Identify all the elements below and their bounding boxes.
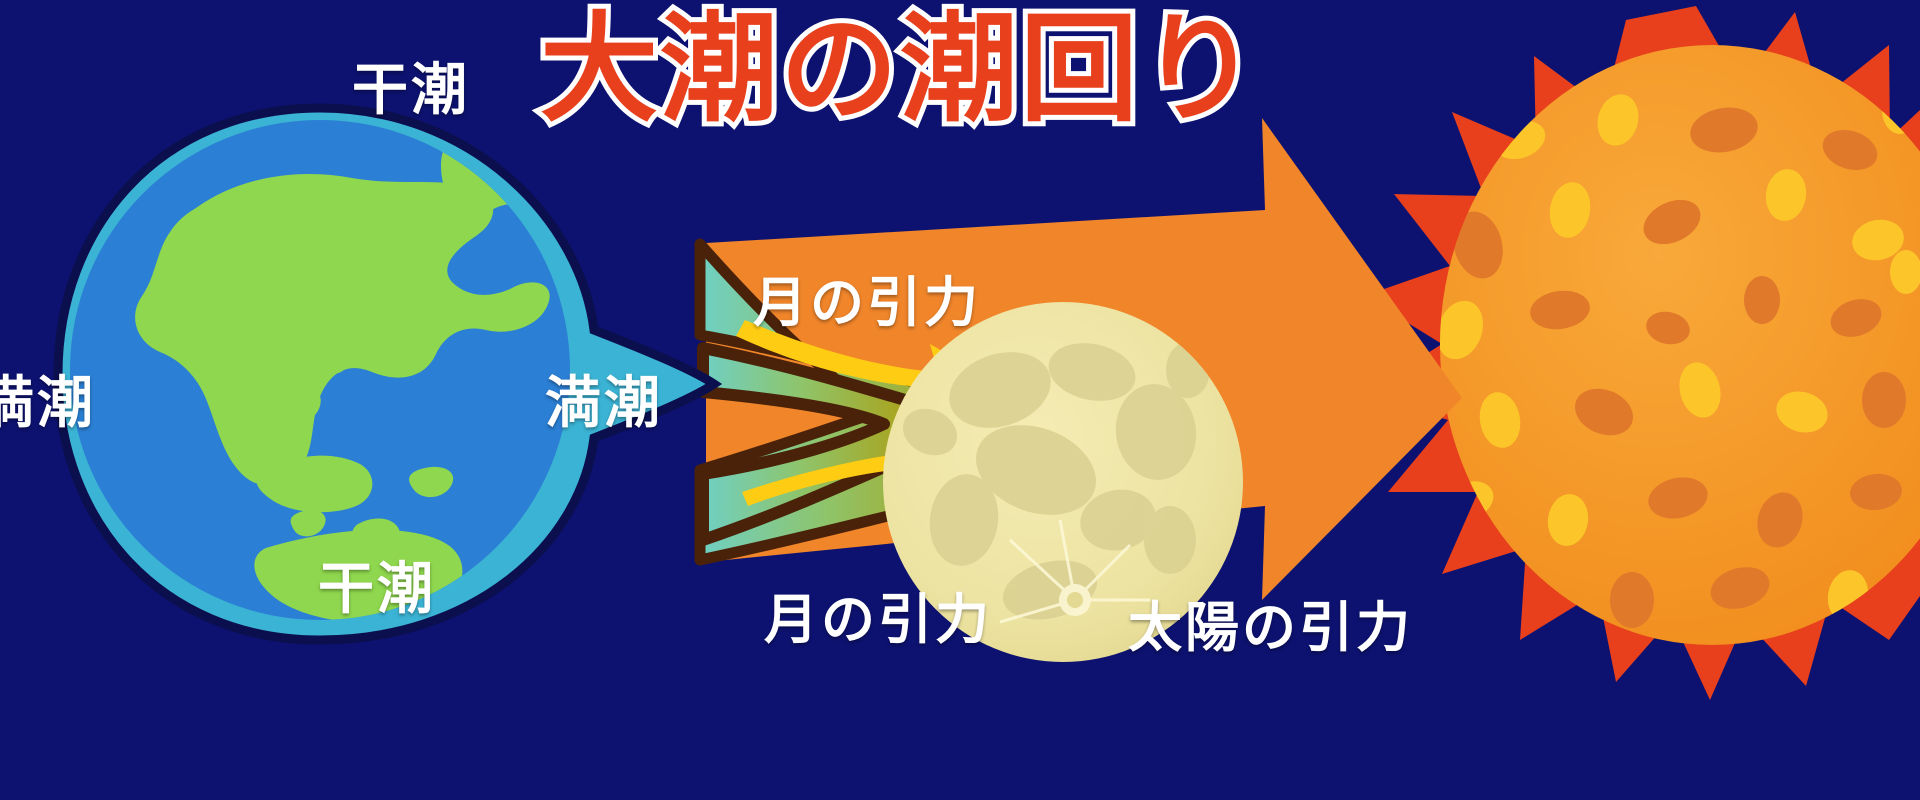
label-low-tide-bottom: 干潮 [318,544,436,625]
illustration-scene [0,0,1920,800]
label-moon-gravity-bottom: 月の引力 [764,575,992,654]
label-high-tide-left: 満潮 [0,358,96,439]
diagram-canvas: 大潮の潮回り 干潮 干潮 満潮 満潮 月の引力 月の引力 太陽の引力 [0,0,1920,800]
label-sun-gravity: 太陽の引力 [1128,583,1413,662]
label-high-tide-right: 満潮 [545,358,663,439]
label-low-tide-top: 干潮 [352,45,470,126]
label-moon-gravity-top: 月の引力 [753,258,981,337]
sun-graphic [1362,6,1920,700]
